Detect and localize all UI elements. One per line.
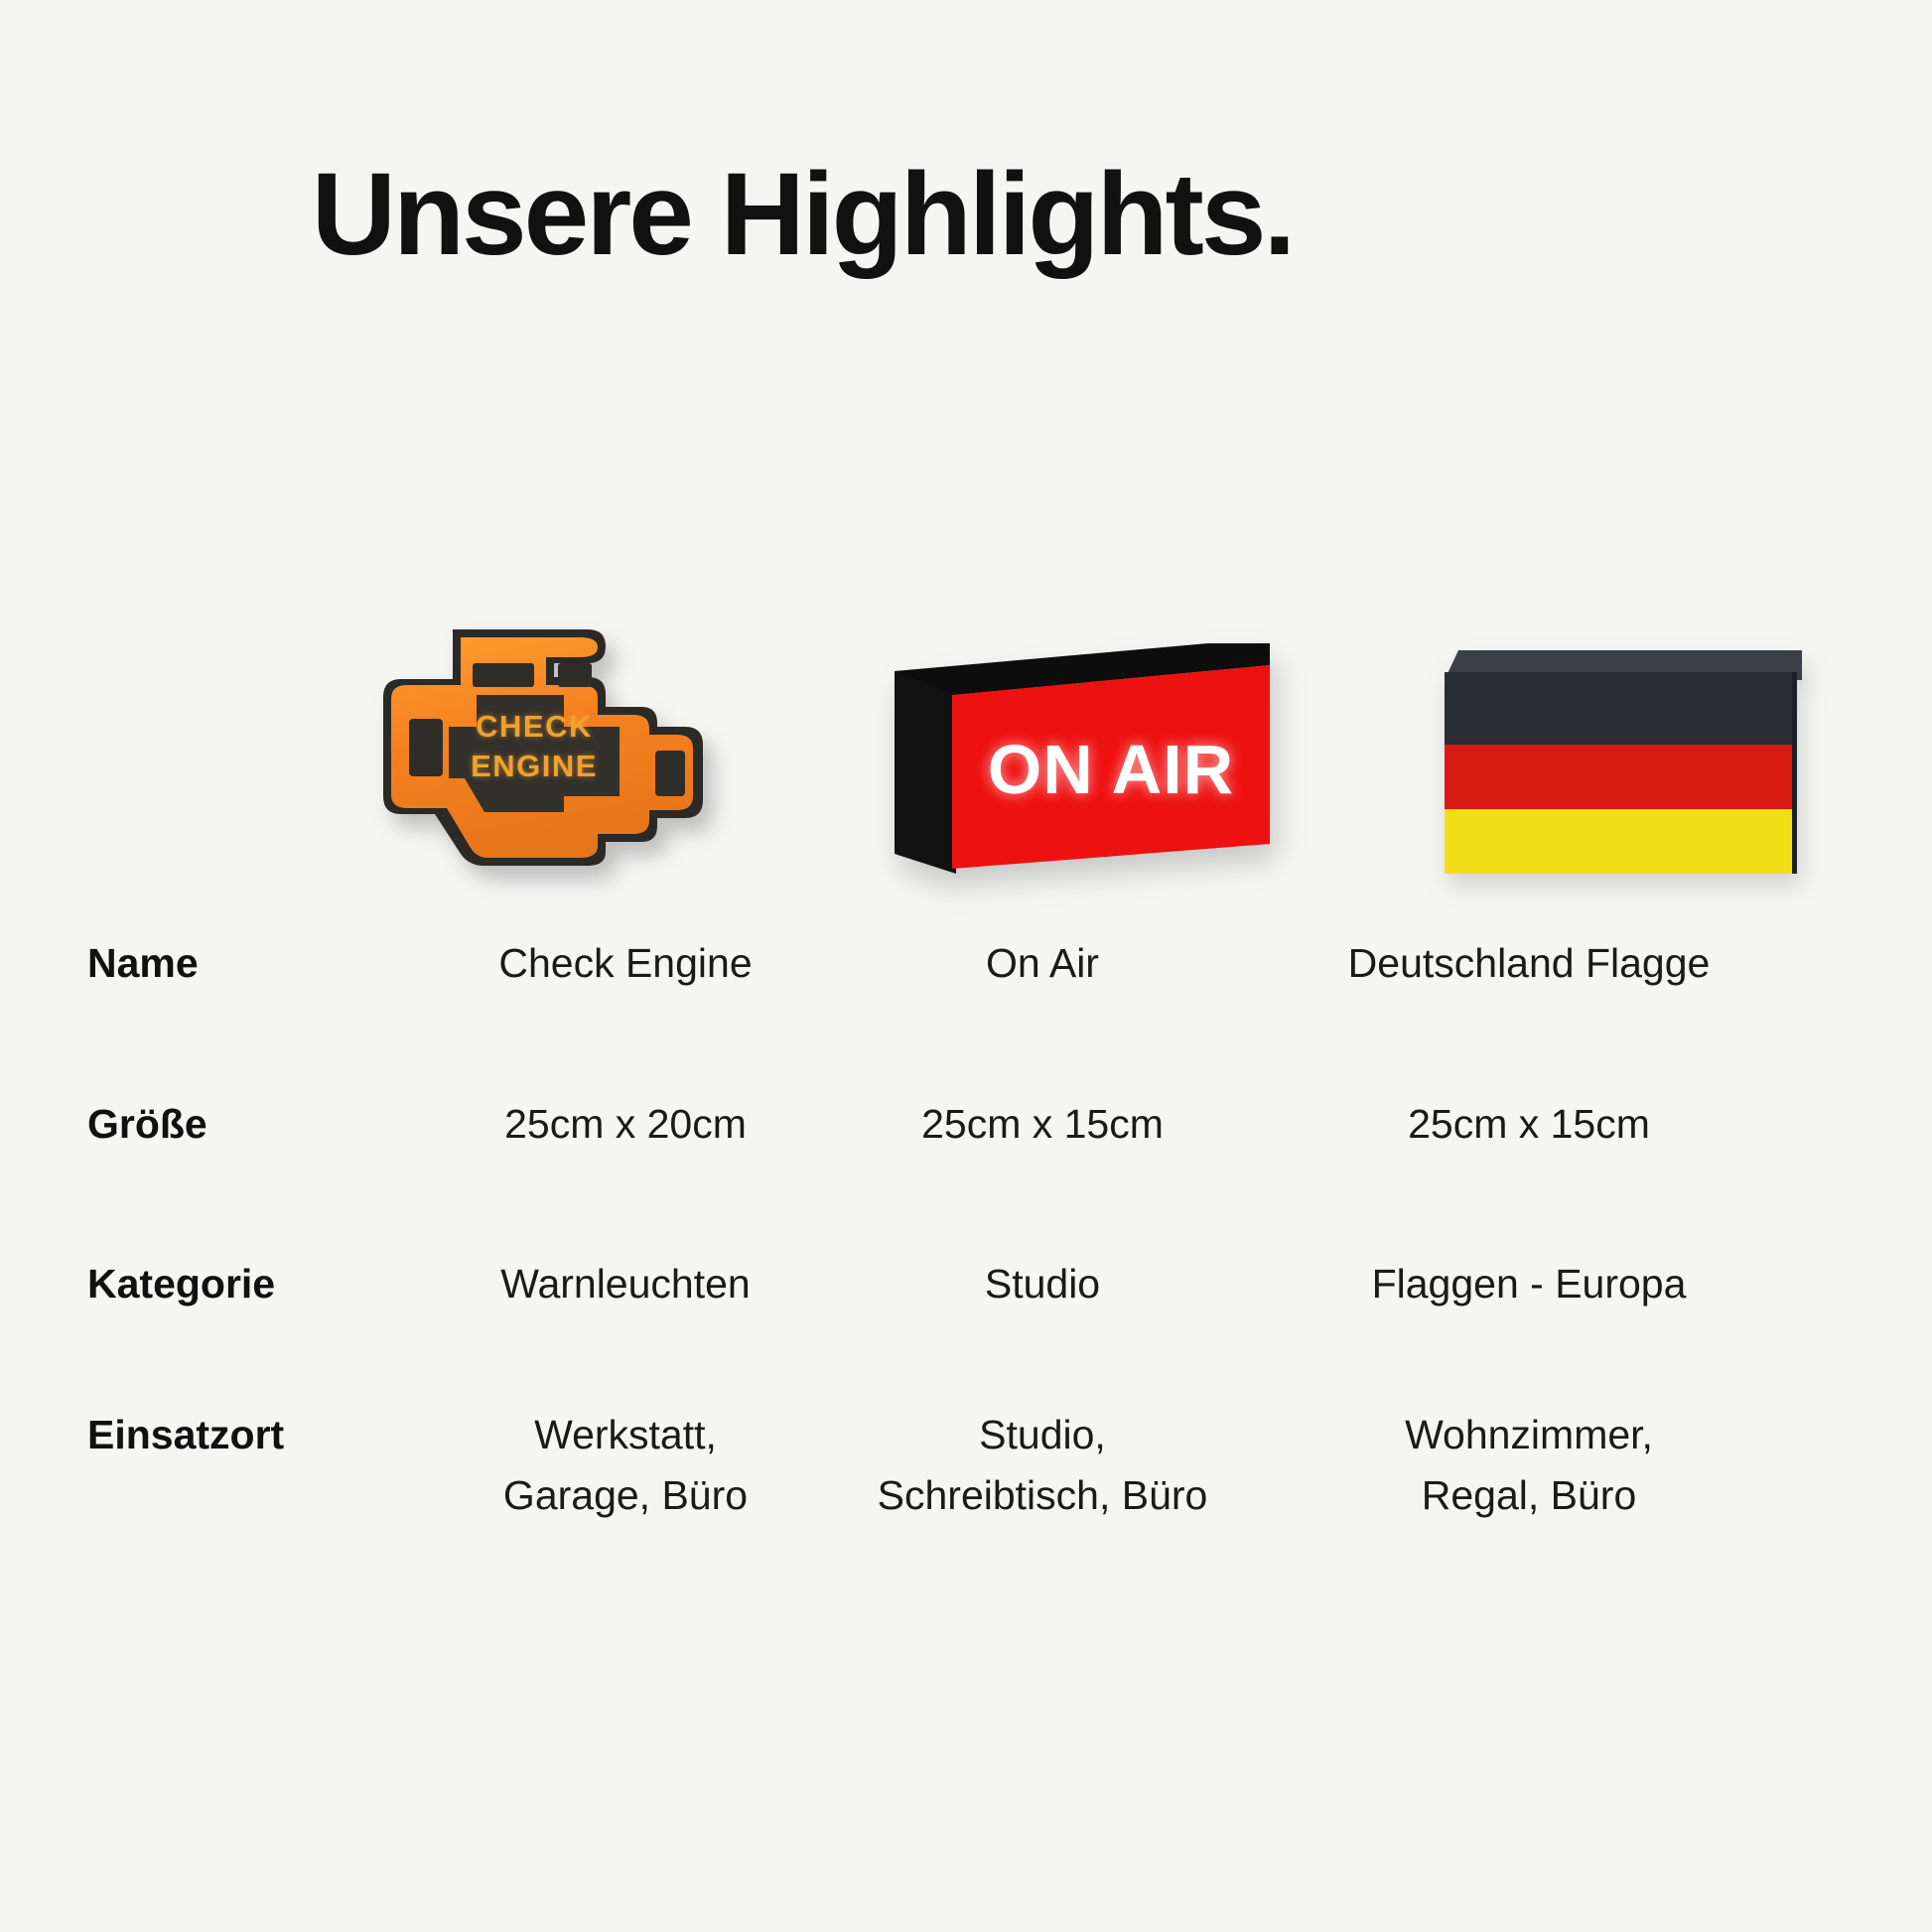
- cell-einsatzort-check-engine: Werkstatt, Garage, Büro: [417, 1405, 834, 1527]
- on-air-front-face: ON AIR: [952, 665, 1270, 869]
- table-row-groesse: Größe 25cm x 20cm 25cm x 15cm 25cm x 15c…: [0, 1094, 1932, 1156]
- row-label-groesse: Größe: [0, 1094, 417, 1156]
- table-row-einsatzort: Einsatzort Werkstatt, Garage, Büro Studi…: [0, 1405, 1932, 1527]
- cell-name-check-engine: Check Engine: [417, 933, 834, 995]
- cell-groesse-on-air: 25cm x 15cm: [834, 1094, 1251, 1156]
- german-flag-band-red: [1445, 745, 1792, 809]
- on-air-text: ON AIR: [988, 730, 1234, 809]
- cell-kategorie-on-air: Studio: [834, 1254, 1251, 1315]
- german-flag-lightbox-icon: [1445, 650, 1802, 874]
- cell-name-on-air: On Air: [834, 933, 1251, 995]
- spec-comparison-table: Name Check Engine On Air Deutschland Fla…: [0, 933, 1932, 1527]
- table-row-name: Name Check Engine On Air Deutschland Fla…: [0, 933, 1932, 995]
- page-title-container: Unsere Highlights.: [0, 154, 1932, 277]
- cell-einsatzort-on-air: Studio, Schreibtisch, Büro: [834, 1405, 1251, 1527]
- cell-groesse-deutschland-flagge: 25cm x 15cm: [1251, 1094, 1807, 1156]
- german-flag-band-gold: [1445, 809, 1792, 874]
- product-image-deutschland-flagge[interactable]: [1390, 556, 1857, 874]
- on-air-side-face: [895, 667, 958, 874]
- product-image-check-engine[interactable]: CHECK ENGINE: [328, 556, 745, 874]
- row-label-name: Name: [0, 933, 417, 995]
- cell-groesse-check-engine: 25cm x 20cm: [417, 1094, 834, 1156]
- cell-kategorie-check-engine: Warnleuchten: [417, 1254, 834, 1315]
- cell-einsatzort-deutschland-flagge: Wohnzimmer, Regal, Büro: [1251, 1405, 1807, 1527]
- german-flag-band-black: [1445, 672, 1792, 745]
- page-title: Unsere Highlights.: [312, 154, 1293, 277]
- cell-kategorie-deutschland-flagge: Flaggen - Europa: [1251, 1254, 1807, 1315]
- table-row-kategorie: Kategorie Warnleuchten Studio Flaggen - …: [0, 1254, 1932, 1315]
- row-label-kategorie: Kategorie: [0, 1254, 417, 1315]
- on-air-lightbox-icon: ON AIR: [895, 643, 1270, 874]
- row-label-einsatzort: Einsatzort: [0, 1405, 417, 1466]
- highlights-page: Unsere Highlights.: [0, 0, 1932, 1932]
- check-engine-lamp-icon: CHECK ENGINE: [357, 616, 715, 874]
- product-image-on-air[interactable]: ON AIR: [874, 556, 1291, 874]
- cell-name-deutschland-flagge: Deutschland Flagge: [1251, 933, 1807, 995]
- product-image-row: CHECK ENGINE ON AIR: [0, 556, 1932, 874]
- german-flag-front-face: [1445, 672, 1797, 874]
